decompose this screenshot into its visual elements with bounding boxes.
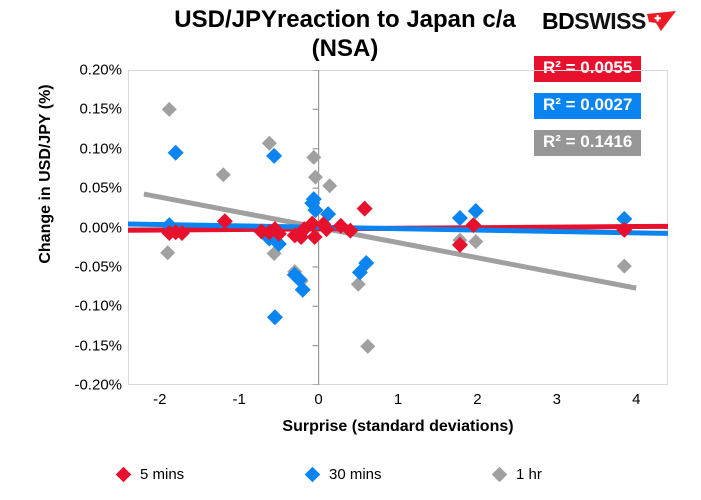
y-tick-label: -0.20%	[2, 378, 122, 393]
chart-title: USD/JPYreaction to Japan c/a (NSA)	[170, 6, 520, 64]
y-tick-label: -0.05%	[2, 259, 122, 274]
data-point-diamond	[216, 167, 231, 182]
x-tick-label: -2	[130, 392, 190, 407]
legend-label: 1 hr	[516, 466, 542, 483]
data-point-diamond	[308, 170, 323, 185]
x-tick-label: 3	[527, 392, 587, 407]
y-tick-label: 0.10%	[2, 141, 122, 156]
series-30-mins	[161, 145, 632, 326]
y-tick-label: -0.10%	[2, 299, 122, 314]
legend-marker-diamond-icon	[492, 466, 508, 482]
x-tick-label: 2	[447, 392, 507, 407]
y-tick-label: 0.20%	[2, 63, 122, 78]
logo-arrow-icon	[647, 11, 677, 32]
logo-text-bd: BD	[542, 10, 574, 33]
data-point-diamond	[162, 102, 177, 117]
data-point-diamond	[267, 309, 283, 325]
x-axis-tick-labels: -2-101234	[128, 392, 668, 412]
data-point-diamond	[360, 339, 375, 354]
data-point-diamond	[452, 210, 468, 226]
logo-text-swiss: SWISS	[574, 10, 646, 33]
x-tick-label: -1	[209, 392, 269, 407]
legend-marker-diamond-icon	[116, 466, 132, 482]
y-tick-label: 0.15%	[2, 102, 122, 117]
y-tick-label: 0.05%	[2, 181, 122, 196]
bdswiss-logo: BDSWISS	[542, 8, 677, 34]
data-point-diamond	[357, 201, 373, 217]
trendline-1-hr	[144, 194, 636, 288]
y-axis-tick-labels: 0.20%0.15%0.10%0.05%0.00%-0.05%-0.10%-0.…	[0, 70, 122, 385]
data-point-diamond	[468, 203, 484, 219]
data-point-diamond	[617, 259, 632, 274]
data-point-diamond	[266, 148, 282, 164]
legend-item-1hr[interactable]: 1 hr	[494, 462, 542, 486]
legend-label: 5 mins	[140, 466, 184, 483]
x-tick-label: 4	[606, 392, 666, 407]
legend-marker-diamond-icon	[305, 466, 321, 482]
x-axis-title: Surprise (standard deviations)	[128, 418, 668, 436]
x-tick-label: 1	[368, 392, 428, 407]
data-point-diamond	[322, 178, 337, 193]
data-point-diamond	[168, 145, 184, 161]
data-point-diamond	[351, 277, 366, 292]
chart-container: BDSWISS USD/JPYreaction to Japan c/a (NS…	[0, 0, 701, 500]
legend-label: 30 mins	[329, 466, 382, 483]
chart-legend: 5 mins 30 mins 1 hr	[110, 462, 610, 486]
plot-area	[128, 70, 668, 385]
y-tick-label: -0.15%	[2, 338, 122, 353]
data-point-diamond	[468, 234, 483, 249]
y-tick-label: 0.00%	[2, 220, 122, 235]
x-tick-label: 0	[289, 392, 349, 407]
data-point-diamond	[160, 245, 175, 260]
legend-item-30mins[interactable]: 30 mins	[307, 462, 382, 486]
legend-item-5mins[interactable]: 5 mins	[118, 462, 184, 486]
scatter-plot	[128, 70, 668, 385]
